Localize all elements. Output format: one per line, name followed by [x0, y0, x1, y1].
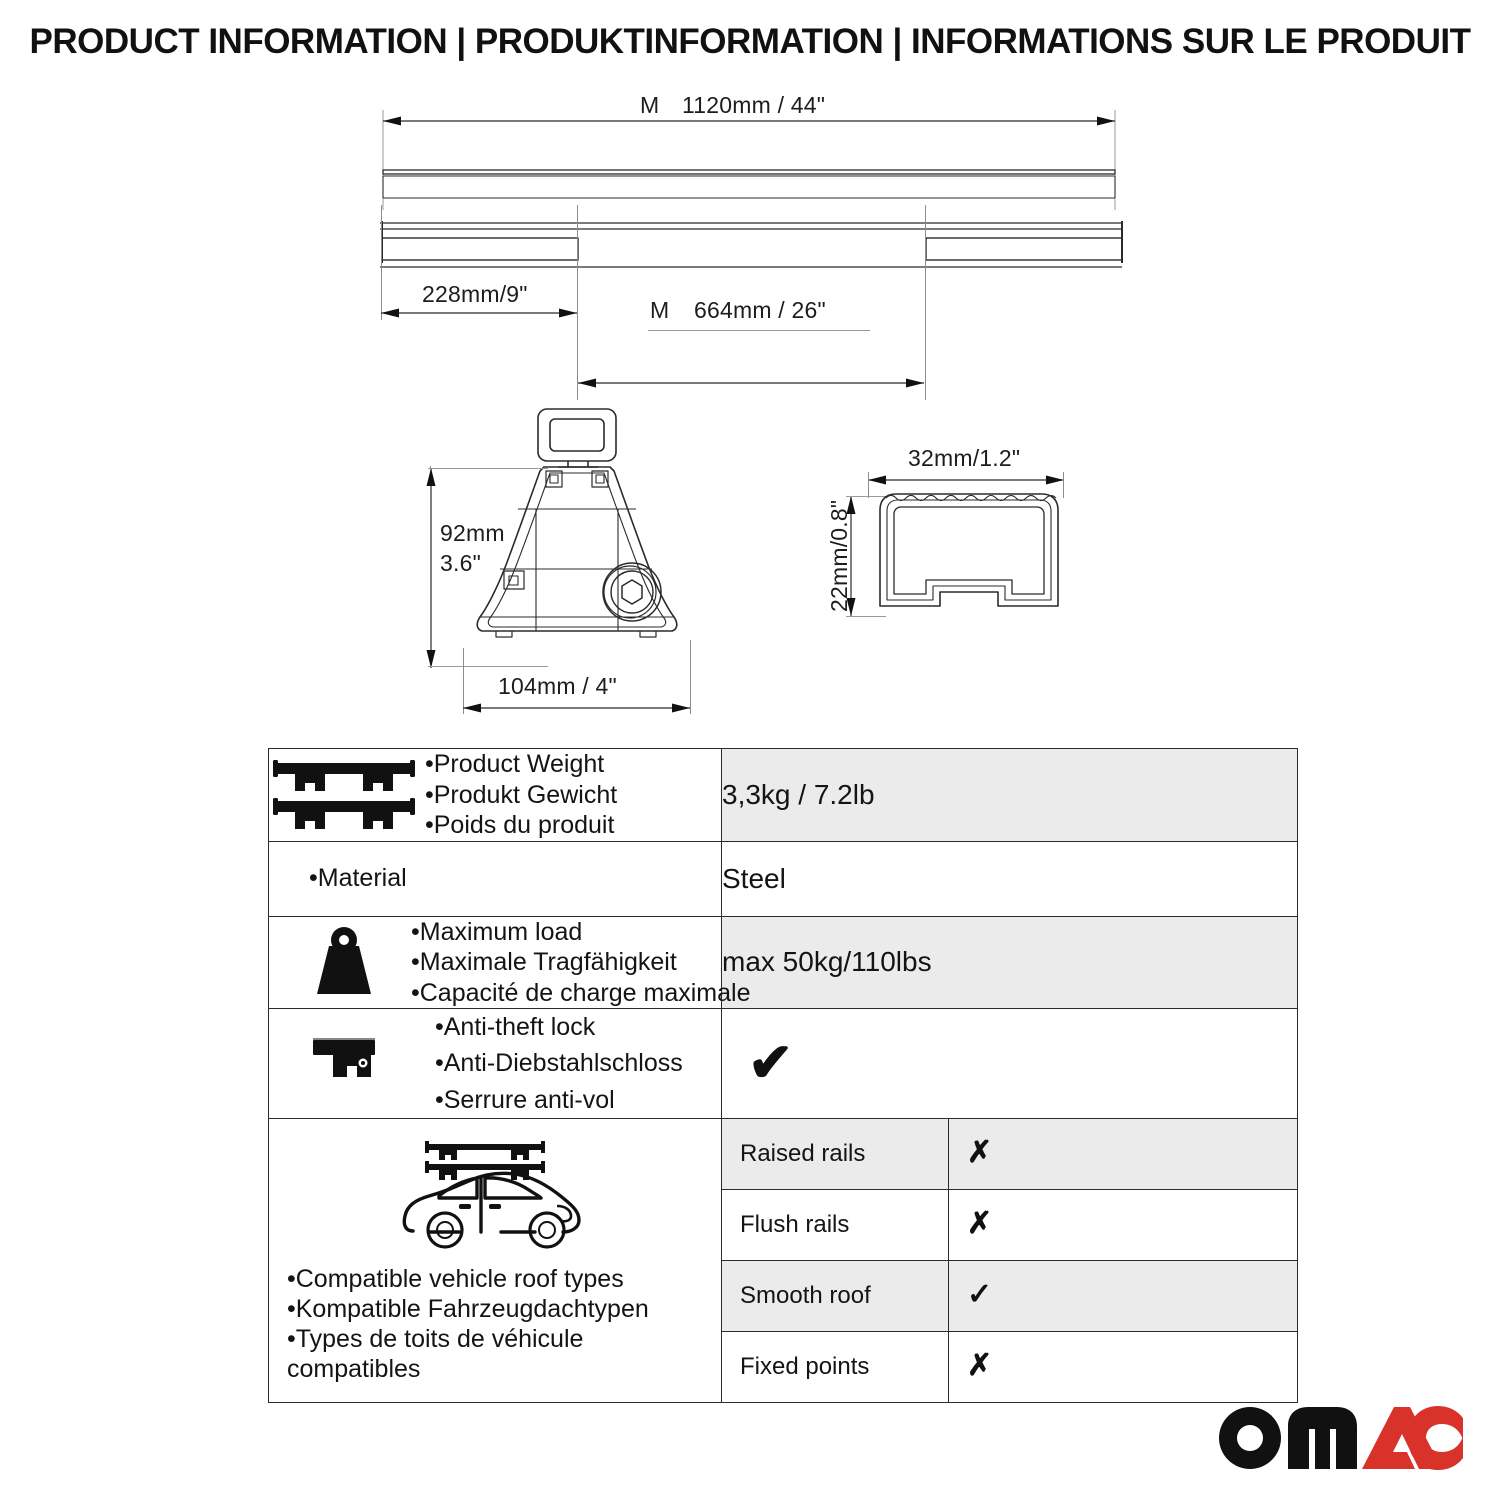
dim-228mm	[375, 305, 585, 321]
label-line: •Maximale Tragfähigkeit	[411, 947, 750, 978]
specification-table: •Product Weight •Produkt Gewicht •Poids …	[268, 748, 1298, 1403]
bar-span-prefix: M	[650, 297, 669, 324]
crossbar-side-view	[370, 205, 1130, 290]
roof-type-name: Smooth roof	[722, 1260, 949, 1331]
roof-type-name: Raised rails	[722, 1119, 949, 1190]
bar-cross-section	[866, 488, 1072, 620]
check-mark: ✓	[967, 1278, 992, 1311]
extension-line-right	[925, 205, 926, 400]
extension-line-mid	[577, 205, 578, 400]
weight-icon	[269, 924, 419, 1000]
car-with-rack-icon	[395, 1136, 595, 1254]
extension-line-left	[381, 205, 382, 320]
label-line: •Maximum load	[411, 917, 750, 948]
label-line: •Product Weight	[425, 749, 617, 780]
row-value-material: Steel	[722, 841, 1298, 916]
product-info-sheet: PRODUCT INFORMATION | PRODUKTINFORMATION…	[0, 0, 1500, 1500]
row-label-max-load: •Maximum load •Maximale Tragfähigkeit •C…	[269, 916, 722, 1009]
label-line: •Poids du produit	[425, 810, 617, 841]
roof-type-mark: ✗	[949, 1189, 1298, 1260]
bar-span-label: 664mm / 26"	[694, 297, 826, 324]
dim-104mm	[457, 700, 697, 716]
dim-664mm	[572, 375, 932, 391]
compatibility-label-texts: •Compatible vehicle roof types •Kompatib…	[269, 1264, 657, 1384]
label-line: •Capacité de charge maximale	[411, 978, 750, 1009]
foot-height-line2: 3.6"	[440, 550, 481, 577]
row-label-compatibility: •Compatible vehicle roof types •Kompatib…	[269, 1118, 722, 1402]
bar-end-offset-label: 228mm/9"	[422, 281, 528, 308]
row-label-weight: •Product Weight •Produkt Gewicht •Poids …	[269, 749, 722, 842]
roof-type-row: Raised rails ✗	[722, 1119, 1297, 1190]
roof-types-table: Raised rails ✗ Flush rails ✗	[722, 1119, 1297, 1402]
table-row: •Anti-theft lock •Anti-Diebstahlschloss …	[269, 1009, 1298, 1119]
cross-mark: ✗	[967, 1349, 992, 1382]
cross-mark: ✗	[967, 1136, 992, 1169]
table-row: •Maximum load •Maximale Tragfähigkeit •C…	[269, 916, 1298, 1009]
label-line: •Anti-theft lock	[435, 1009, 683, 1045]
label-line: •Produkt Gewicht	[425, 780, 617, 811]
label-line: •Material	[309, 863, 407, 894]
omac-logo	[1214, 1396, 1464, 1474]
foot-height-line1: 92mm	[440, 520, 505, 547]
roof-type-mark: ✗	[949, 1331, 1298, 1402]
label-line: •Kompatible Fahrzeugdachtypen	[287, 1294, 657, 1324]
profile-width-label: 32mm/1.2"	[908, 445, 1020, 472]
max-load-label-texts: •Maximum load •Maximale Tragfähigkeit •C…	[411, 917, 750, 1009]
roof-type-row: Fixed points ✗	[722, 1331, 1297, 1402]
material-label-texts: •Material	[269, 863, 407, 894]
crossbar-top-view	[370, 110, 1130, 220]
row-label-anti-theft: •Anti-theft lock •Anti-Diebstahlschloss …	[269, 1009, 722, 1119]
label-line: •Anti-Diebstahlschloss	[435, 1045, 683, 1081]
row-value-max-load: max 50kg/110lbs	[722, 916, 1298, 1009]
roof-type-row: Smooth roof ✓	[722, 1260, 1297, 1331]
page-title: PRODUCT INFORMATION | PRODUKTINFORMATION…	[0, 22, 1500, 62]
label-line: •Types de toits de véhicule compatibles	[287, 1324, 657, 1384]
span-underline	[648, 330, 870, 331]
dim-92mm	[422, 462, 440, 674]
check-mark: ✔	[722, 1026, 1297, 1100]
roof-type-mark: ✓	[949, 1260, 1298, 1331]
table-row: •Product Weight •Produkt Gewicht •Poids …	[269, 749, 1298, 842]
table-row: •Material Steel	[269, 841, 1298, 916]
roof-type-mark: ✗	[949, 1119, 1298, 1190]
roof-types-cell: Raised rails ✗ Flush rails ✗	[722, 1118, 1298, 1402]
label-line: •Compatible vehicle roof types	[287, 1264, 657, 1294]
foot-width-label: 104mm / 4"	[498, 673, 617, 700]
row-label-material: •Material	[269, 841, 722, 916]
cross-mark: ✗	[967, 1207, 992, 1240]
anti-theft-label-texts: •Anti-theft lock •Anti-Diebstahlschloss …	[435, 1009, 683, 1118]
row-value-weight: 3,3kg / 7.2lb	[722, 749, 1298, 842]
lock-icon	[269, 1028, 419, 1098]
roof-type-name: Flush rails	[722, 1189, 949, 1260]
dim-32mm	[862, 472, 1072, 488]
crossbars-icon	[269, 757, 419, 833]
row-value-anti-theft: ✔	[722, 1009, 1298, 1119]
omac-logo-mark	[1214, 1396, 1464, 1474]
table-row: •Compatible vehicle roof types •Kompatib…	[269, 1118, 1298, 1402]
weight-label-texts: •Product Weight •Produkt Gewicht •Poids …	[425, 749, 617, 841]
roof-type-row: Flush rails ✗	[722, 1189, 1297, 1260]
dim-22mm	[842, 490, 860, 622]
label-line: •Serrure anti-vol	[435, 1082, 683, 1118]
roof-type-name: Fixed points	[722, 1331, 949, 1402]
